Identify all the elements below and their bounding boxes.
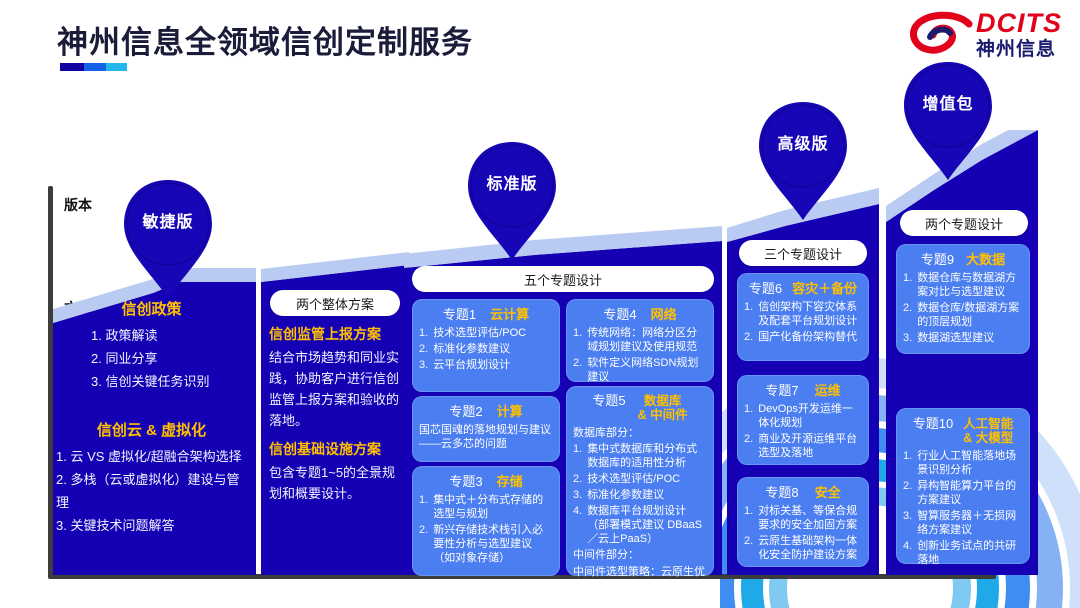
card-topic: 大数据: [966, 253, 1005, 267]
list-item: 1.DevOps开发运维一体化规划: [744, 402, 862, 430]
pin-label: 标准版: [464, 170, 560, 194]
agile-list-1: 1. 政策解读 2. 同业分享 3. 信创关键任务识别: [55, 325, 248, 393]
card-topic: 人工智能 & 大模型: [963, 418, 1013, 446]
list-item: 2.国产化备份架构替代: [744, 330, 862, 344]
column-agile: 信创政策 1. 政策解读 2. 同业分享 3. 信创关键任务识别 信创云 & 虚…: [53, 290, 256, 537]
card-topic-3[interactable]: 专题3 存储 1.集中式＋分布式存储的选型与规划 2.新兴存储技术栈引入必要性分…: [412, 466, 560, 576]
card-topic: 安全: [815, 486, 841, 500]
card-items: 1.信创架构下容灾体系及配套平台规划设计 2.国产化备份架构替代: [744, 300, 862, 344]
pill-five-topics: 五个专题设计: [412, 266, 714, 292]
list-item: 2. 同业分享: [55, 348, 248, 371]
list-item: 2.新兴存储技术栈引入必要性分析与选型建议（如对象存储）: [419, 523, 553, 565]
list-item: 2.技术选型评估/POC: [573, 472, 707, 486]
card-topic: 计算: [497, 405, 523, 419]
card-topic-7[interactable]: 专题7 运维 1.DevOps开发运维一体化规划 2.商业及开源运维平台选型及落…: [737, 375, 869, 465]
list-item: 2.异构智能算力平台的方案建议: [903, 479, 1023, 507]
card-topic-9[interactable]: 专题9 大数据 1.数据仓库与数据湖方案对比与选型建议 2.数据仓库/数据湖方案…: [896, 244, 1030, 354]
slide-root: 神州信息全领域信创定制服务 DCITS 神州信息 版本 方案 敏捷版 信: [0, 0, 1080, 608]
card-number: 专题1: [443, 304, 476, 323]
pin-label: 敏捷版: [120, 208, 216, 232]
dcits-swirl-icon: [906, 8, 978, 64]
title-underline: [60, 63, 127, 71]
card-items: 1.集中式＋分布式存储的选型与规划 2.新兴存储技术栈引入必要性分析与选型建议（…: [419, 493, 553, 565]
card-items: 1.数据仓库与数据湖方案对比与选型建议 2.数据仓库/数据湖方案的顶层规划 3.…: [903, 271, 1023, 345]
card-items: 1.集中式数据库和分布式数据库的适用性分析 2.技术选型评估/POC 3.标准化…: [573, 442, 707, 547]
card-head: 专题6 容灾＋备份: [744, 278, 862, 297]
card-items: 1.技术选型评估/POC 2.标准化参数建议 3.云平台规划设计: [419, 326, 553, 372]
card-items: 1.传统网络：网络分区分域规划建议及使用规范 2.软件定义网络SDN规划建议: [573, 326, 707, 384]
card-topic: 容灾＋备份: [792, 282, 857, 296]
list-item: 1.信创架构下容灾体系及配套平台规划设计: [744, 300, 862, 328]
pin-valueadd[interactable]: 增值包: [900, 60, 996, 182]
list-item: 2.数据仓库/数据湖方案的顶层规划: [903, 301, 1023, 329]
list-item: 2. 多栈（云或虚拟化）建设与管理: [55, 469, 248, 515]
list-item: 1.技术选型评估/POC: [419, 326, 553, 340]
card-head: 专题9 大数据: [903, 249, 1023, 268]
card-topic-6[interactable]: 专题6 容灾＋备份 1.信创架构下容灾体系及配套平台规划设计 2.国产化备份架构…: [737, 273, 869, 361]
card-head: 专题10 人工智能 & 大模型: [903, 413, 1023, 446]
block-title-1: 信创监管上报方案: [269, 324, 402, 344]
card-number: 专题9: [921, 249, 954, 268]
card-topic-8[interactable]: 专题8 安全 1.对标关基、等保合规要求的安全加固方案 2.云原生基础架构一体化…: [737, 477, 869, 567]
agile-list-2: 1. 云 VS 虚拟化/超融合架构选择 2. 多栈（云或虚拟化）建设与管理 3.…: [55, 446, 248, 537]
card-items: 1.行业人工智能落地场景识别分析 2.异构智能算力平台的方案建议 3.智算服务器…: [903, 449, 1023, 568]
card-topic-4[interactable]: 专题4 网络 1.传统网络：网络分区分域规划建议及使用规范 2.软件定义网络SD…: [566, 299, 714, 382]
card-topic: 运维: [815, 384, 841, 398]
card-number: 专题6: [749, 278, 782, 297]
card-topic: 数据库 & 中间件: [638, 395, 688, 423]
pin-standard[interactable]: 标准版: [464, 140, 560, 262]
card-text: 国芯国魂的落地规划与建议——云多芯的问题: [419, 423, 553, 452]
pin-marker-icon: [900, 60, 996, 182]
agile-section-title-2: 信创云 & 虚拟化: [55, 419, 248, 440]
card-topic: 网络: [651, 308, 677, 322]
list-item: 1.集中式＋分布式存储的选型与规划: [419, 493, 553, 521]
card-number: 专题3: [449, 471, 482, 490]
card-head: 专题7 运维: [744, 380, 862, 399]
card-sub-db: 数据库部分：: [573, 426, 707, 440]
list-item: 2.商业及开源运维平台选型及落地: [744, 432, 862, 460]
list-item: 1.传统网络：网络分区分域规划建议及使用规范: [573, 326, 707, 354]
list-item: 3.标准化参数建议: [573, 488, 707, 502]
list-item: 1.集中式数据库和分布式数据库的适用性分析: [573, 442, 707, 470]
card-head: 专题2 计算: [419, 401, 553, 420]
list-item: 2.软件定义网络SDN规划建议: [573, 356, 707, 384]
agile-section-title-1: 信创政策: [55, 298, 248, 319]
card-sub-mw: 中间件部分：: [573, 548, 707, 562]
pin-marker-icon: [464, 140, 560, 262]
list-item: 1.对标关基、等保合规要求的安全加固方案: [744, 504, 862, 532]
list-item: 3.云平台规划设计: [419, 358, 553, 372]
card-number: 专题2: [449, 401, 482, 420]
card-topic-2[interactable]: 专题2 计算 国芯国魂的落地规划与建议——云多芯的问题: [412, 396, 560, 462]
pin-marker-icon: [755, 100, 851, 222]
axis-label-version: 版本: [64, 195, 92, 215]
page-title: 神州信息全领域信创定制服务: [57, 17, 473, 62]
card-head: 专题1 云计算: [419, 304, 553, 323]
list-item: 1.数据仓库与数据湖方案对比与选型建议: [903, 271, 1023, 299]
list-item: 1.行业人工智能落地场景识别分析: [903, 449, 1023, 477]
card-number: 专题8: [765, 482, 798, 501]
list-item: 4.创新业务试点的共研落地: [903, 539, 1023, 567]
block-text-2: 包含专题1~5的全景规划和概要设计。: [269, 462, 402, 504]
pin-marker-icon: [120, 178, 216, 300]
card-topic-10[interactable]: 专题10 人工智能 & 大模型 1.行业人工智能落地场景识别分析 2.异构智能算…: [896, 408, 1030, 564]
card-head: 专题4 网络: [573, 304, 707, 323]
pin-label: 高级版: [755, 130, 851, 154]
logo-brand: DCITS: [976, 10, 1062, 37]
pin-label: 增值包: [900, 90, 996, 114]
logo-brand-cn: 神州信息: [976, 39, 1062, 61]
block-title-2: 信创基础设施方案: [269, 439, 402, 459]
card-head: 专题5 数据库 & 中间件: [573, 390, 707, 423]
list-item: 4.数据库平台规划设计（部署模式建议 DBaaS／云上PaaS）: [573, 504, 707, 546]
list-item: 1. 政策解读: [55, 325, 248, 348]
list-item: 3. 关键技术问题解答: [55, 515, 248, 538]
block-text-1: 结合市场趋势和同业实践，协助客户进行信创监管上报方案和验收的落地。: [269, 347, 402, 431]
card-number: 专题7: [765, 380, 798, 399]
card-mw-text: 中间件选型策略：云原生优先＋传统信创中间件＋开源管理: [573, 565, 707, 608]
list-item: 3. 信创关键任务识别: [55, 371, 248, 394]
list-item: 1. 云 VS 虚拟化/超融合架构选择: [55, 446, 248, 469]
card-number: 专题5: [592, 390, 625, 409]
pin-advanced[interactable]: 高级版: [755, 100, 851, 222]
card-topic: 存储: [497, 475, 523, 489]
pin-agile[interactable]: 敏捷版: [120, 178, 216, 300]
card-number: 专题10: [913, 413, 953, 432]
card-head: 专题8 安全: [744, 482, 862, 501]
card-head: 专题3 存储: [419, 471, 553, 490]
card-topic-1[interactable]: 专题1 云计算 1.技术选型评估/POC 2.标准化参数建议 3.云平台规划设计: [412, 299, 560, 392]
card-items: 1.DevOps开发运维一体化规划 2.商业及开源运维平台选型及落地: [744, 402, 862, 460]
card-topic-5[interactable]: 专题5 数据库 & 中间件 数据库部分： 1.集中式数据库和分布式数据库的适用性…: [566, 386, 714, 576]
card-topic: 云计算: [490, 308, 529, 322]
list-item: 3.智算服务器＋无损网络方案建议: [903, 509, 1023, 537]
pill-overall-plans: 两个整体方案: [270, 290, 400, 316]
card-number: 专题4: [603, 304, 636, 323]
card-items: 1.对标关基、等保合规要求的安全加固方案 2.云原生基础架构一体化安全防护建设方…: [744, 504, 862, 562]
list-item: 2.云原生基础架构一体化安全防护建设方案: [744, 534, 862, 562]
pill-three-topics: 三个专题设计: [739, 240, 867, 266]
list-item: 2.标准化参数建议: [419, 342, 553, 356]
list-item: 3.数据湖选型建议: [903, 331, 1023, 345]
pill-two-topics: 两个专题设计: [900, 210, 1028, 236]
